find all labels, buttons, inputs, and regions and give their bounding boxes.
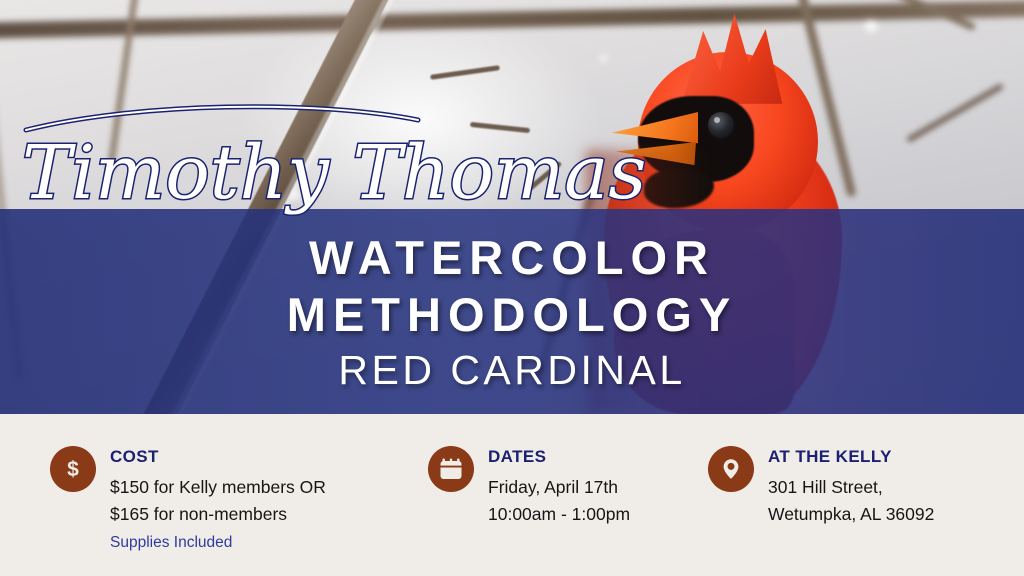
dates-line-2: 10:00am - 1:00pm: [488, 501, 630, 528]
location-heading: AT THE KELLY: [768, 447, 934, 467]
cost-heading: COST: [110, 447, 326, 467]
calendar-icon: [428, 446, 474, 492]
background-twig: [906, 83, 1004, 143]
dates-heading: DATES: [488, 447, 630, 467]
svg-text:$: $: [67, 458, 79, 481]
cost-text: COST $150 for Kelly members OR $165 for …: [110, 446, 326, 552]
title-line-2: METHODOLOGY: [287, 286, 737, 343]
dollar-icon: $: [50, 446, 96, 492]
map-pin-icon: [708, 446, 754, 492]
dates-text: DATES Friday, April 17th 10:00am - 1:00p…: [488, 446, 630, 527]
supplies-note: Supplies Included: [110, 534, 326, 552]
location-text: AT THE KELLY 301 Hill Street, Wetumpka, …: [768, 446, 934, 527]
dates-column: DATES Friday, April 17th 10:00am - 1:00p…: [428, 446, 630, 527]
title-block: WATERCOLOR METHODOLOGY RED CARDINAL: [0, 209, 1024, 414]
location-column: AT THE KELLY 301 Hill Street, Wetumpka, …: [708, 446, 934, 527]
location-line-2: Wetumpka, AL 36092: [768, 501, 934, 528]
event-promo-poster: WATERCOLOR METHODOLOGY RED CARDINAL Timo…: [0, 0, 1024, 576]
event-details-bar: $ COST $150 for Kelly members OR $165 fo…: [0, 414, 1024, 576]
bird-eye: [708, 112, 734, 138]
cost-line-1: $150 for Kelly members OR: [110, 474, 326, 501]
details-columns: $ COST $150 for Kelly members OR $165 fo…: [0, 414, 1024, 576]
dates-line-1: Friday, April 17th: [488, 474, 630, 501]
location-line-1: 301 Hill Street,: [768, 474, 934, 501]
title-subtitle: RED CARDINAL: [338, 347, 685, 394]
title-line-1: WATERCOLOR: [309, 229, 715, 286]
cost-line-2: $165 for non-members: [110, 501, 326, 528]
cost-column: $ COST $150 for Kelly members OR $165 fo…: [50, 446, 326, 552]
bird-crest: [672, 8, 792, 104]
